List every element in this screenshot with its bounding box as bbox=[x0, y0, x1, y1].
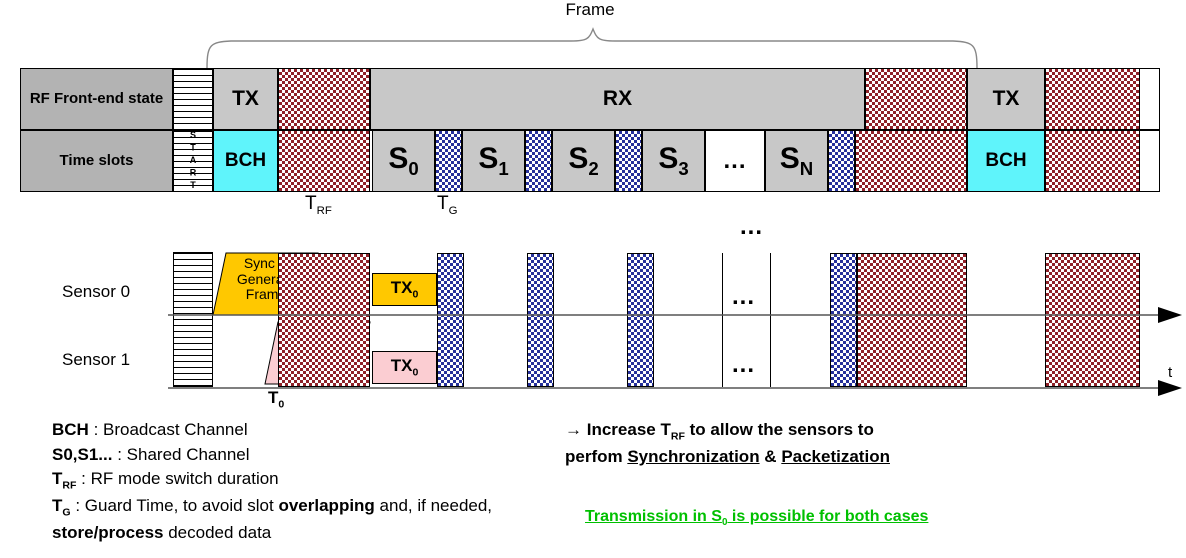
start-label: START bbox=[188, 130, 198, 193]
sensor-0-tx0-sub: 0 bbox=[412, 289, 418, 301]
rf-state-label: RF Front-end state bbox=[30, 90, 163, 107]
slot-sn-label: S bbox=[780, 142, 800, 175]
rf-state-label-cell: RF Front-end state bbox=[20, 68, 173, 130]
slot-s3-label: S bbox=[658, 142, 678, 175]
note-line-2: perfom Synchronization & Packetization bbox=[565, 445, 1035, 470]
mid-ellipsis: ... bbox=[740, 213, 763, 241]
slot-s1-sub: 1 bbox=[498, 158, 508, 179]
slot-s3: S3 bbox=[642, 130, 705, 192]
slot-ellipsis: ... bbox=[723, 147, 746, 175]
slot-bch-2: BCH bbox=[967, 130, 1045, 192]
slot-s2: S2 bbox=[552, 130, 615, 192]
legend-block: BCH : Broadcast Channel S0,S1... : Share… bbox=[52, 418, 552, 545]
frame-label: Frame bbox=[520, 0, 660, 20]
slot-gap-ellipsis: ... bbox=[705, 130, 765, 192]
sensor-1-ellipsis: ... bbox=[732, 351, 755, 379]
slot-s1: S1 bbox=[462, 130, 525, 192]
time-slots-label: Time slots bbox=[60, 152, 134, 169]
sensor-1-label: Sensor 1 bbox=[62, 350, 130, 370]
diagram-canvas: Frame RF Front-end state Time slots STAR… bbox=[0, 0, 1186, 558]
slot-trf-3 bbox=[1045, 130, 1140, 192]
slot-bch-2-label: BCH bbox=[985, 150, 1026, 172]
legend-item-tg: TG : Guard Time, to avoid slot overlappi… bbox=[52, 494, 552, 545]
sensor-0-time-axis bbox=[168, 305, 1183, 325]
rf-block-tx-2-label: TX bbox=[993, 87, 1020, 111]
t-g-label: TG bbox=[437, 193, 457, 217]
rf-block-tx-1: TX bbox=[213, 68, 278, 130]
rf-switch-red-1 bbox=[278, 68, 370, 130]
rf-switch-red-2 bbox=[865, 68, 967, 130]
note-arrow-icon: → bbox=[565, 420, 582, 439]
slot-trf-2 bbox=[855, 130, 967, 192]
guard-tg-3 bbox=[615, 130, 642, 192]
slot-bch-1: BCH bbox=[213, 130, 278, 192]
sensor-1-tx0-label: TX bbox=[391, 356, 413, 375]
t-rf-label: TRF bbox=[305, 193, 332, 217]
guard-tg-2 bbox=[525, 130, 552, 192]
sensor-0-label: Sensor 0 bbox=[62, 282, 130, 302]
frame-label-wrap: Frame bbox=[520, 0, 660, 20]
sensor-0-tx0-label: TX bbox=[391, 278, 413, 297]
time-axis-label: t bbox=[1168, 364, 1172, 381]
frame-brace bbox=[205, 28, 980, 70]
start-column-top bbox=[173, 68, 213, 130]
t-zero-label: T0 bbox=[268, 388, 284, 410]
slot-sn-sub: N bbox=[800, 158, 813, 179]
slot-s2-sub: 2 bbox=[588, 158, 598, 179]
sensor-1-tx0-sub: 0 bbox=[412, 367, 418, 379]
slot-s2-label: S bbox=[568, 142, 588, 175]
slot-s0: S0 bbox=[372, 130, 435, 192]
note-transmission-green: Transmission in S0 is possible for both … bbox=[585, 508, 1055, 528]
rf-block-rx: RX bbox=[370, 68, 865, 130]
sensor-0-tx0-box: TX0 bbox=[372, 273, 437, 306]
rf-switch-red-3 bbox=[1045, 68, 1140, 130]
guard-tg-4 bbox=[828, 130, 855, 192]
start-column-bottom: START bbox=[173, 130, 213, 192]
slot-s0-sub: 0 bbox=[408, 158, 418, 179]
legend-item-bch: BCH : Broadcast Channel bbox=[52, 418, 552, 443]
slot-s3-sub: 3 bbox=[678, 158, 688, 179]
legend-item-shared: S0,S1... : Shared Channel bbox=[52, 443, 552, 468]
note-increase-trf: → Increase TRF to allow the sensors to p… bbox=[565, 418, 1035, 469]
time-slots-label-cell: Time slots bbox=[20, 130, 173, 192]
sensor-1-time-axis bbox=[168, 378, 1183, 398]
slot-trf-1 bbox=[278, 130, 370, 192]
guard-tg-1 bbox=[435, 130, 462, 192]
slot-sn: SN bbox=[765, 130, 828, 192]
slot-s1-label: S bbox=[478, 142, 498, 175]
legend-item-trf: TRF : RF mode switch duration bbox=[52, 467, 552, 494]
rf-block-tx-2: TX bbox=[967, 68, 1045, 130]
rf-block-rx-label: RX bbox=[603, 87, 632, 111]
slot-s0-label: S bbox=[388, 142, 408, 175]
slot-bch-1-label: BCH bbox=[225, 150, 266, 172]
rf-block-tx-1-label: TX bbox=[232, 87, 259, 111]
